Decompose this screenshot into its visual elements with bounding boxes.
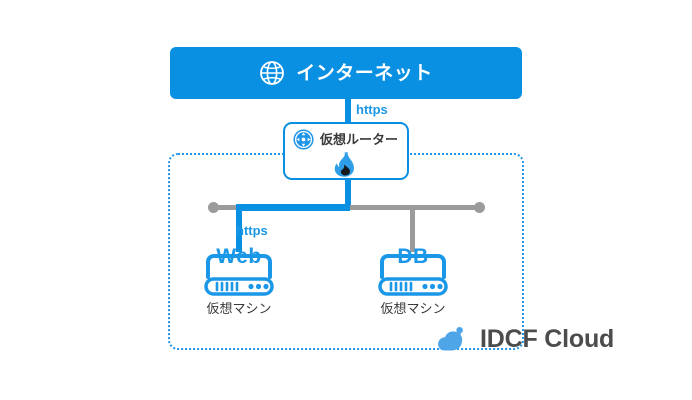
- idcf-cloud-wordmark: IDCF Cloud: [480, 327, 614, 352]
- bus-endpoint-left: [208, 202, 219, 213]
- cloud-mark-icon: [437, 324, 473, 354]
- server-tag-web: Web: [174, 246, 304, 267]
- internet-label: インターネット: [296, 64, 433, 83]
- bus-active-segment: [236, 204, 350, 211]
- server-node-web: Web 仮想マシン: [174, 246, 304, 315]
- connector-internet-router: [345, 99, 351, 124]
- diagram-canvas: インターネット https 仮想ルーター: [0, 0, 692, 400]
- link-label-internet-router: https: [356, 103, 388, 116]
- server-caption-web: 仮想マシン: [174, 302, 304, 315]
- router-header: 仮想ルーター: [293, 129, 398, 150]
- globe-icon: [259, 60, 285, 86]
- internet-banner: インターネット: [170, 47, 522, 99]
- router-label: 仮想ルーター: [320, 133, 398, 146]
- link-label-bus-web: https: [236, 224, 268, 237]
- idcf-cloud-logo: IDCF Cloud: [437, 324, 614, 354]
- bus-endpoint-right: [474, 202, 485, 213]
- server-tag-db: DB: [348, 246, 478, 267]
- server-node-db: DB 仮想マシン: [348, 246, 478, 315]
- virtual-router-node: 仮想ルーター: [283, 122, 409, 180]
- router-icon: [293, 129, 314, 150]
- server-graphic-web: Web: [174, 246, 304, 298]
- server-graphic-db: DB: [348, 246, 478, 298]
- server-caption-db: 仮想マシン: [348, 302, 478, 315]
